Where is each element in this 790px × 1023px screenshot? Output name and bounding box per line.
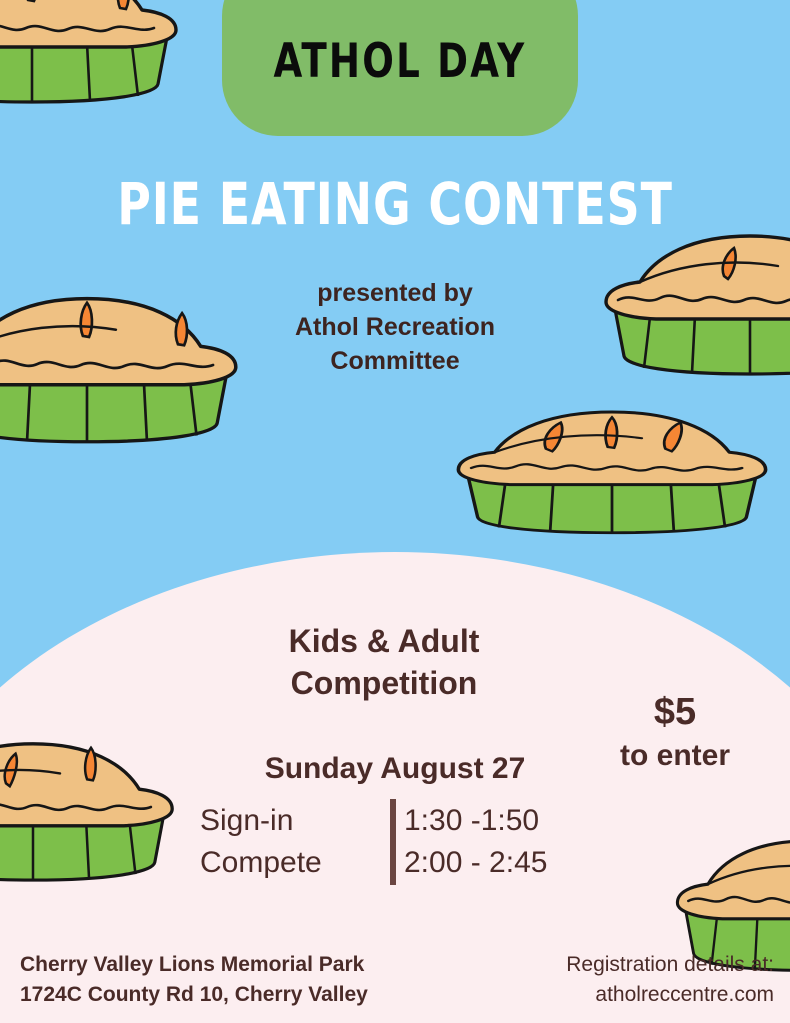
poster-canvas: ATHOL DAY PIE EATING CONTEST presented b… <box>0 0 790 1023</box>
pie-illustration <box>0 0 182 108</box>
venue-line-2: 1724C County Rd 10, Cherry Valley <box>20 980 368 1010</box>
presented-by-line-3: Committee <box>0 344 790 378</box>
presented-by-line-2: Athol Recreation <box>0 310 790 344</box>
event-date: Sunday August 27 <box>0 752 790 786</box>
schedule-time-compete: 2:00 - 2:45 <box>404 846 547 880</box>
schedule-label-signin: Sign-in <box>200 804 382 838</box>
registration-line-1: Registration details at: <box>566 950 774 980</box>
venue-address: Cherry Valley Lions Memorial Park 1724C … <box>20 950 368 1010</box>
schedule-time-signin: 1:30 -1:50 <box>404 804 547 838</box>
entry-price-amount: $5 <box>575 690 775 734</box>
competition-line-1: Kids & Adult <box>0 620 768 662</box>
presented-by-block: presented by Athol Recreation Committee <box>0 276 790 378</box>
page-title: ATHOL DAY <box>243 34 556 89</box>
pie-illustration <box>452 398 772 538</box>
registration-website[interactable]: atholreccentre.com <box>566 980 774 1010</box>
schedule-table: Sign-in 1:30 -1:50 Compete 2:00 - 2:45 <box>200 800 547 884</box>
schedule-label-compete: Compete <box>200 846 382 880</box>
presented-by-line-1: presented by <box>0 276 790 310</box>
venue-line-1: Cherry Valley Lions Memorial Park <box>20 950 368 980</box>
registration-info: Registration details at: atholreccentre.… <box>566 950 774 1010</box>
schedule-divider <box>390 799 396 885</box>
event-title: PIE EATING CONTEST <box>47 170 742 238</box>
